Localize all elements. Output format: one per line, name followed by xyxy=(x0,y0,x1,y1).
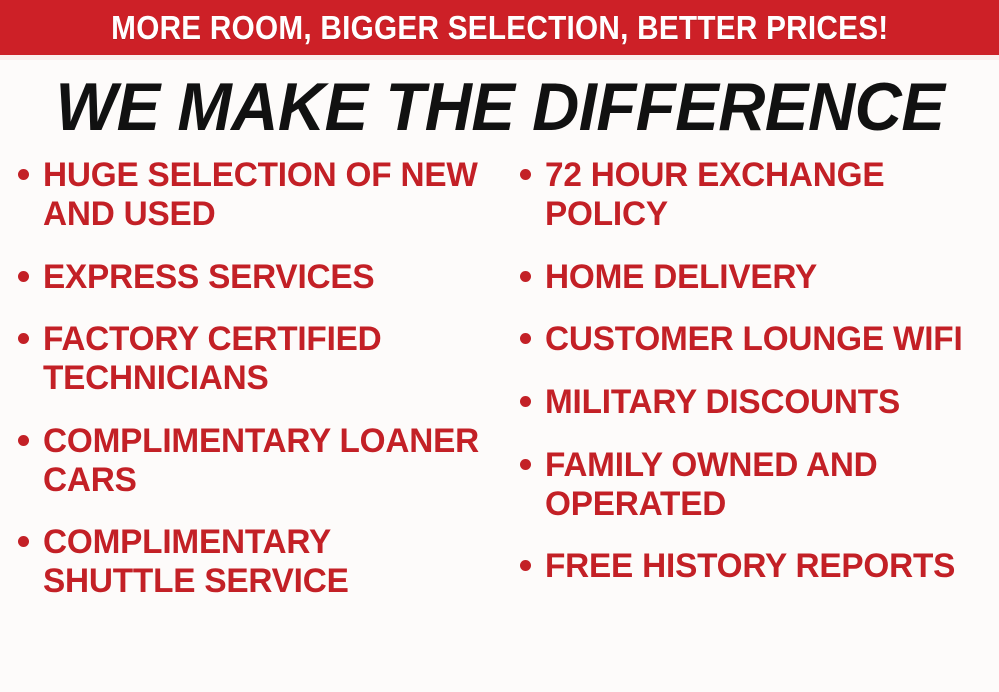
bullet-dot-icon xyxy=(520,560,531,571)
list-item-label: MILITARY DISCOUNTS xyxy=(545,383,900,422)
list-item: COMPLIMENTARY LOANER CARS xyxy=(18,422,494,500)
list-item: MILITARY DISCOUNTS xyxy=(520,383,995,422)
list-item-label: HOME DELIVERY xyxy=(545,258,817,297)
list-item-label: 72 HOUR EXCHANGE POLICY xyxy=(545,156,986,234)
list-item-label: CUSTOMER LOUNGE WIFI xyxy=(545,320,963,359)
headline-container: WE MAKE THE DIFFERENCE xyxy=(0,66,999,148)
benefits-columns: HUGE SELECTION OF NEW AND USED EXPRESS S… xyxy=(0,156,999,692)
list-item-label: FACTORY CERTIFIED TECHNICIANS xyxy=(43,320,485,398)
list-item-label: COMPLIMENTARY LOANER CARS xyxy=(43,422,485,500)
benefits-column-left: HUGE SELECTION OF NEW AND USED EXPRESS S… xyxy=(0,156,500,625)
list-item-label: COMPLIMENTARY SHUTTLE SERVICE xyxy=(43,523,485,601)
list-item: COMPLIMENTARY SHUTTLE SERVICE xyxy=(18,523,494,601)
bullet-dot-icon xyxy=(520,169,531,180)
list-item: HUGE SELECTION OF NEW AND USED xyxy=(18,156,494,234)
page-title: WE MAKE THE DIFFERENCE xyxy=(55,73,944,141)
list-item-label: EXPRESS SERVICES xyxy=(43,258,374,297)
promo-banner-text: MORE ROOM, BIGGER SELECTION, BETTER PRIC… xyxy=(111,11,888,44)
bullet-dot-icon xyxy=(520,396,531,407)
list-item: CUSTOMER LOUNGE WIFI xyxy=(520,320,995,359)
list-item: FREE HISTORY REPORTS xyxy=(520,547,995,586)
list-item: HOME DELIVERY xyxy=(520,258,995,297)
advertisement-canvas: MORE ROOM, BIGGER SELECTION, BETTER PRIC… xyxy=(0,0,999,692)
list-item-label: FAMILY OWNED AND OPERATED xyxy=(545,446,986,524)
bullet-dot-icon xyxy=(520,459,531,470)
promo-banner: MORE ROOM, BIGGER SELECTION, BETTER PRIC… xyxy=(0,0,999,55)
banner-underline-divider xyxy=(0,55,999,60)
list-item: FACTORY CERTIFIED TECHNICIANS xyxy=(18,320,494,398)
list-item-label: HUGE SELECTION OF NEW AND USED xyxy=(43,156,485,234)
list-item-label: FREE HISTORY REPORTS xyxy=(545,547,955,586)
bullet-dot-icon xyxy=(520,333,531,344)
list-item: FAMILY OWNED AND OPERATED xyxy=(520,446,995,524)
bullet-dot-icon xyxy=(520,271,531,282)
list-item: 72 HOUR EXCHANGE POLICY xyxy=(520,156,995,234)
